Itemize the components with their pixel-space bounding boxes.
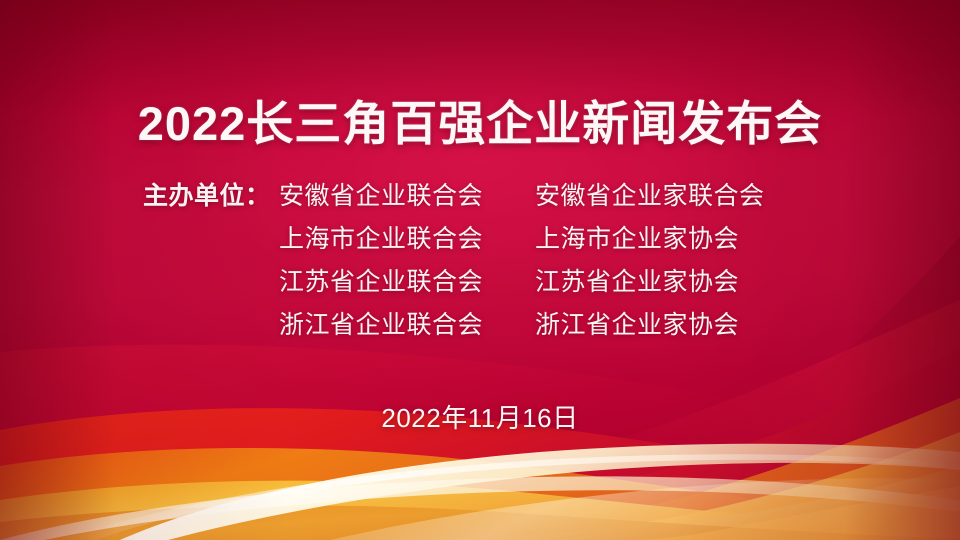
organizer-left-2: 上海市企业联合会 — [165, 219, 483, 255]
organizer-right-2: 上海市企业家协会 — [535, 219, 795, 255]
organizer-list: 主办单位： 安徽省企业联合会 安徽省企业家联合会 上海市企业联合会 上海市企业家… — [0, 176, 960, 348]
organizer-left-3: 江苏省企业联合会 — [165, 262, 483, 298]
organizer-right-3: 江苏省企业家协会 — [535, 262, 795, 298]
poster-title: 2022长三角百强企业新闻发布会 — [0, 96, 960, 151]
organizer-right-4: 浙江省企业家协会 — [535, 305, 795, 341]
organizer-row: 江苏省企业联合会 江苏省企业家协会 — [0, 262, 960, 305]
organizer-row: 上海市企业联合会 上海市企业家协会 — [0, 219, 960, 262]
poster-date: 2022年11月16日 — [0, 398, 960, 435]
organizer-right-1: 安徽省企业家联合会 — [535, 176, 795, 212]
poster-canvas: 2022长三角百强企业新闻发布会 主办单位： 安徽省企业联合会 安徽省企业家联合… — [0, 0, 960, 540]
organizer-prefix-label: 主办单位： — [143, 176, 271, 212]
organizer-row: 主办单位： 安徽省企业联合会 安徽省企业家联合会 — [0, 176, 960, 219]
organizer-row: 浙江省企业联合会 浙江省企业家协会 — [0, 305, 960, 348]
organizer-left-4: 浙江省企业联合会 — [165, 305, 483, 341]
poster-content: 2022长三角百强企业新闻发布会 主办单位： 安徽省企业联合会 安徽省企业家联合… — [0, 0, 960, 540]
